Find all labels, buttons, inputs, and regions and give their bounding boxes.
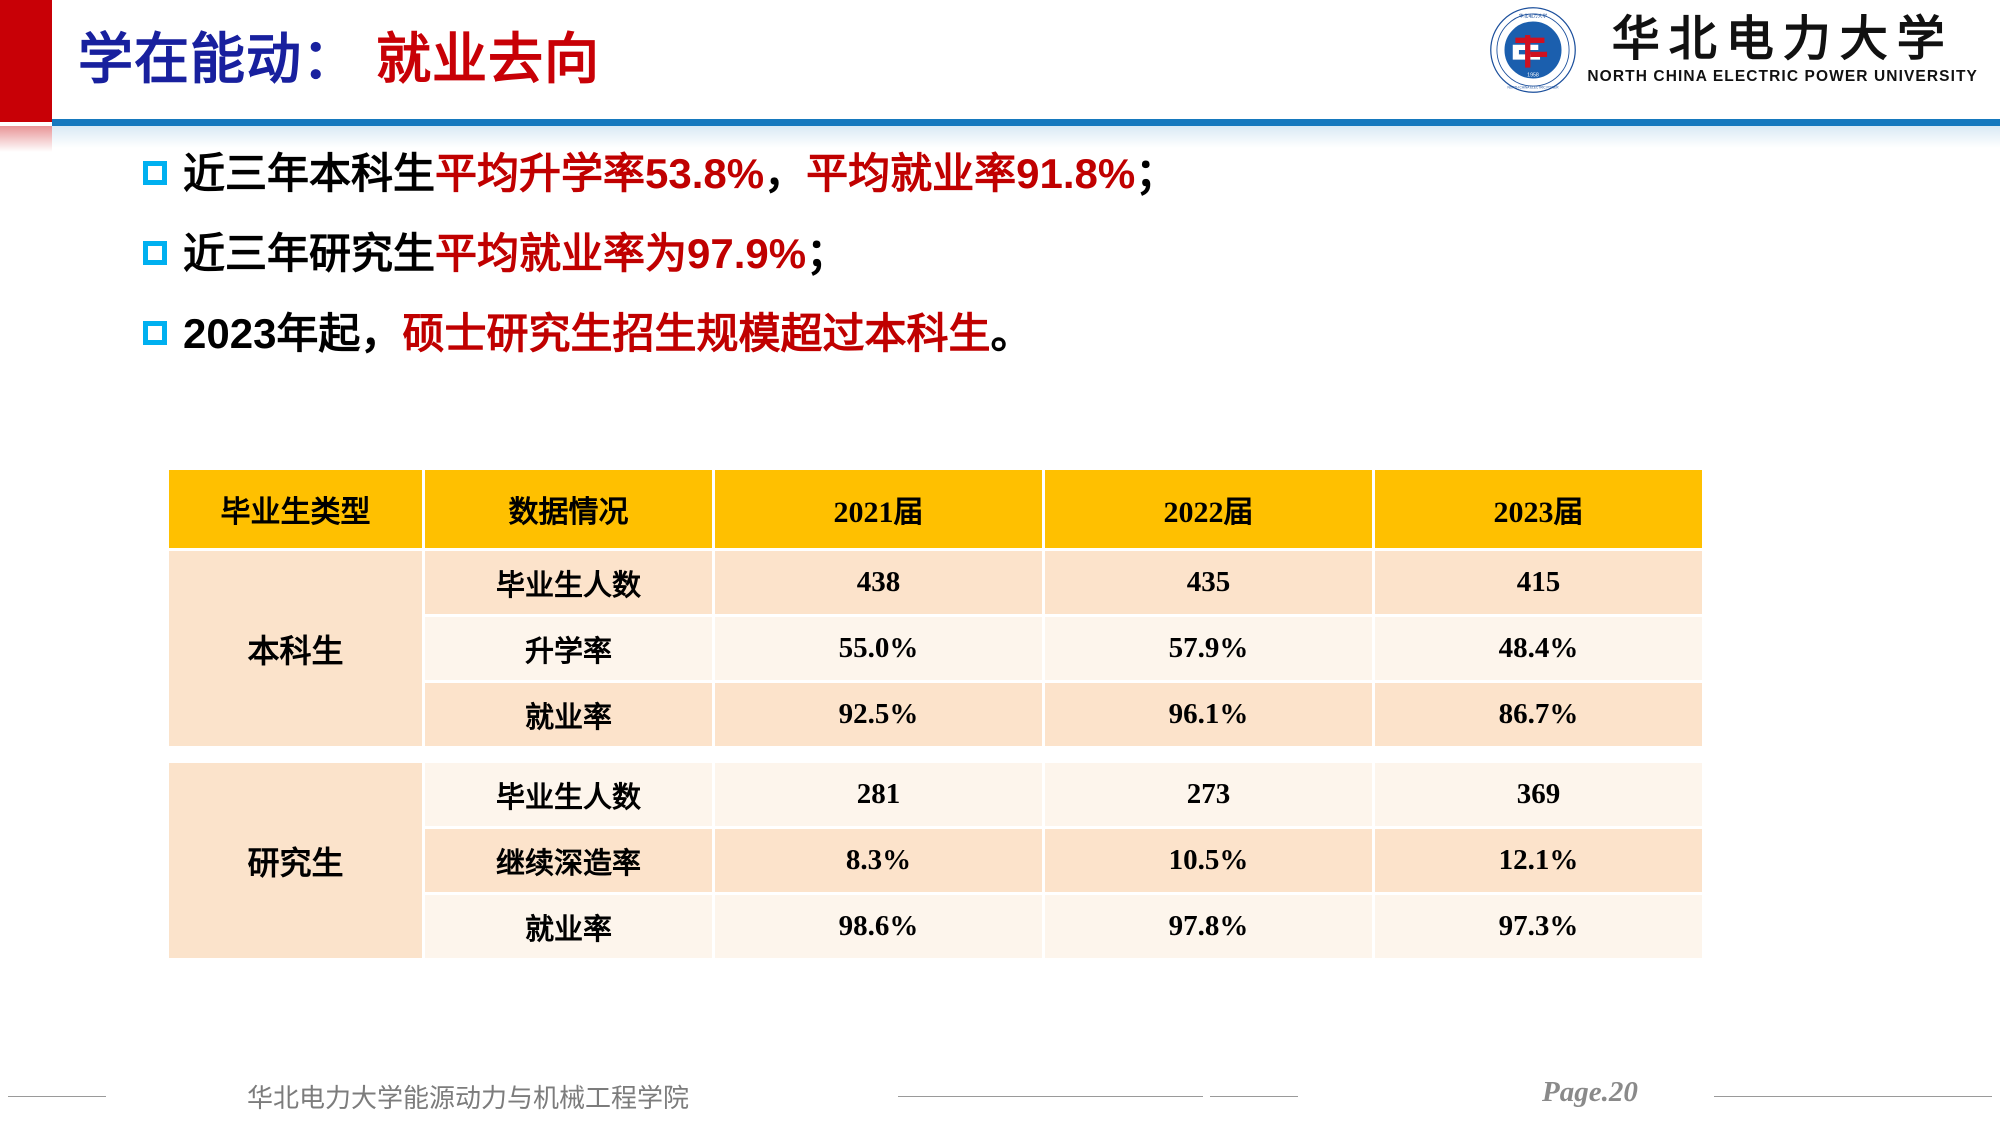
value-2022: 273 [1045,763,1372,826]
metric-label: 升学率 [425,617,712,680]
metric-label: 毕业生人数 [425,551,712,614]
page-title: 学在能动：就业去向 [78,16,600,102]
bullet-item-3: 2023年起，硕士研究生招生规模超过本科生。 [143,303,1643,383]
footer-page-number: Page.20 [1542,1076,1638,1109]
value-2021: 281 [715,763,1042,826]
header-blue-rule [52,119,2000,126]
bullet-1-seg-1: 近三年本科生 [183,150,435,197]
column-header-2022: 2022届 [1045,470,1372,548]
value-2022: 97.8% [1045,895,1372,958]
value-2022: 57.9% [1045,617,1372,680]
table-group-separator [169,749,1702,760]
value-2021: 98.6% [715,895,1042,958]
bullet-3-seg-3: 。 [990,310,1032,357]
metric-label: 就业率 [425,895,712,958]
footer-organization: 华北电力大学能源动力与机械工程学院 [247,1078,689,1115]
bullet-item-1-text: 近三年本科生平均升学率53.8%，平均就业率91.8%； [183,143,1177,205]
bullet-1-seg-5: ； [1135,150,1177,197]
bullet-3-seg-2: 硕士研究生招生规模超过本科生 [402,310,990,357]
bullet-2-seg-2: 平均就业率为97.9% [435,230,806,277]
column-header-type: 毕业生类型 [169,470,422,548]
bullet-1-seg-3: ， [764,150,806,197]
value-2023: 415 [1375,551,1702,614]
value-2022: 96.1% [1045,683,1372,746]
bullet-list: 近三年本科生平均升学率53.8%，平均就业率91.8%； 近三年研究生平均就业率… [143,143,1643,383]
bullet-2-seg-3: ； [806,230,848,277]
university-name-block: 华北电力大学 NORTH CHINA ELECTRIC POWER UNIVER… [1587,14,1978,86]
value-2021: 438 [715,551,1042,614]
bullet-3-seg-1: 2023年起， [183,310,402,357]
university-emblem-icon: 1958 华北电力大学 NORTH CHINA ELECTRIC POWER [1489,6,1577,94]
bullet-item-1: 近三年本科生平均升学率53.8%，平均就业率91.8%； [143,143,1643,223]
value-2023: 86.7% [1375,683,1702,746]
value-2023: 97.3% [1375,895,1702,958]
slide-header: 学在能动：就业去向 1958 华北电力大学 NORTH CHINA ELECTR… [0,0,2000,120]
table-header-row: 毕业生类型 数据情况 2021届 2022届 2023届 [169,470,1702,548]
footer-rule-left [8,1096,106,1097]
value-2021: 55.0% [715,617,1042,680]
bullet-item-3-text: 2023年起，硕士研究生招生规模超过本科生。 [183,303,1032,365]
header-red-bar-reflection [0,126,52,152]
metric-label: 毕业生人数 [425,763,712,826]
university-logo: 1958 华北电力大学 NORTH CHINA ELECTRIC POWER 华… [1489,6,1978,94]
column-header-2023: 2023届 [1375,470,1702,548]
group-label-graduate: 研究生 [169,763,422,958]
page-title-main: 学在能动： [78,28,358,90]
employment-statistics-table: 毕业生类型 数据情况 2021届 2022届 2023届 本科生 毕业生人数 4… [166,467,1705,961]
value-2021: 8.3% [715,829,1042,892]
value-2023: 48.4% [1375,617,1702,680]
metric-label: 就业率 [425,683,712,746]
column-header-2021: 2021届 [715,470,1042,548]
metric-label: 继续深造率 [425,829,712,892]
square-outline-bullet-icon [143,241,167,265]
group-label-undergraduate: 本科生 [169,551,422,746]
table-row: 研究生 毕业生人数 281 273 369 [169,763,1702,826]
table-row: 本科生 毕业生人数 438 435 415 [169,551,1702,614]
university-name-en: NORTH CHINA ELECTRIC POWER UNIVERSITY [1587,68,1978,86]
bullet-item-2: 近三年研究生平均就业率为97.9%； [143,223,1643,303]
square-outline-bullet-icon [143,321,167,345]
value-2021: 92.5% [715,683,1042,746]
footer-rule-mid-2 [1210,1096,1298,1097]
svg-text:NORTH CHINA ELECTRIC POWER: NORTH CHINA ELECTRIC POWER [1508,86,1560,90]
svg-text:1958: 1958 [1528,72,1540,78]
footer-rule-right [1714,1096,1992,1097]
header-red-accent-bar [0,0,52,122]
column-header-metric: 数据情况 [425,470,712,548]
square-outline-bullet-icon [143,161,167,185]
page-title-accent: 就业去向 [376,28,600,90]
value-2022: 10.5% [1045,829,1372,892]
university-name-cn: 华北电力大学 [1612,14,1954,66]
bullet-2-seg-1: 近三年研究生 [183,230,435,277]
value-2023: 369 [1375,763,1702,826]
value-2023: 12.1% [1375,829,1702,892]
bullet-1-seg-2: 平均升学率53.8% [435,150,764,197]
bullet-1-seg-4: 平均就业率91.8% [806,150,1135,197]
value-2022: 435 [1045,551,1372,614]
bullet-item-2-text: 近三年研究生平均就业率为97.9%； [183,223,848,285]
footer-rule-mid-1 [898,1096,1203,1097]
slide-footer: 华北电力大学能源动力与机械工程学院 Page.20 [0,1072,2000,1122]
